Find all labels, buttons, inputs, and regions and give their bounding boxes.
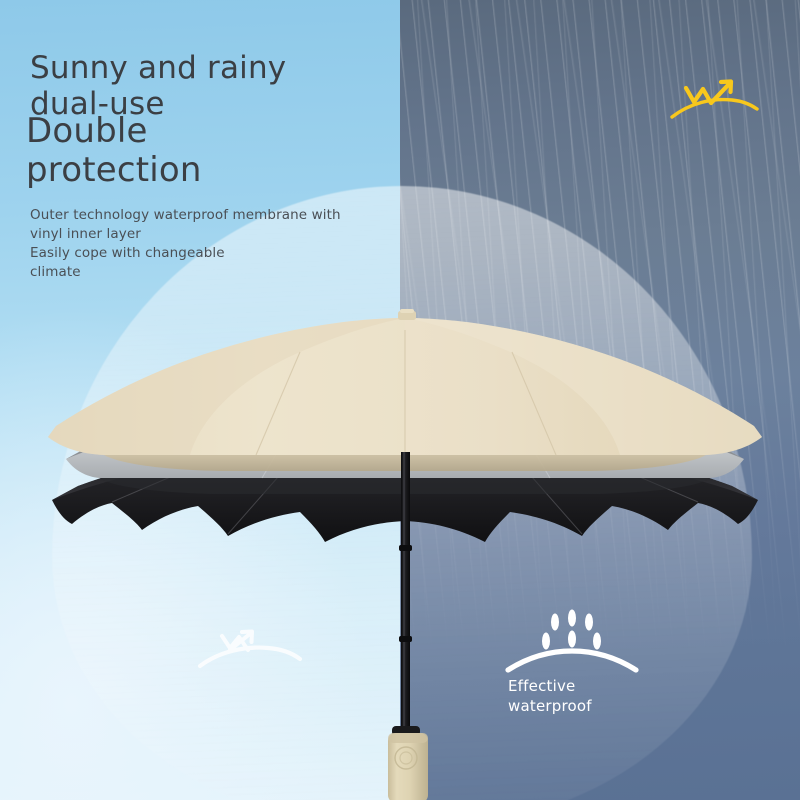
product-description: Outer technology waterproof membrane wit… bbox=[30, 206, 341, 283]
raindrops bbox=[542, 610, 601, 650]
sun-deflection-arrow-icon bbox=[664, 62, 764, 134]
waterproof-badge-label: Effective waterproof bbox=[508, 677, 648, 717]
sun-protection-badge bbox=[664, 62, 764, 134]
raindrops-on-arc-icon bbox=[496, 608, 646, 678]
headline-secondary: Double protection bbox=[26, 112, 202, 191]
uv-deflection-arrow-icon bbox=[196, 614, 306, 686]
uv-protection-badge bbox=[196, 614, 306, 686]
deflection-arc bbox=[508, 651, 636, 670]
product-poster: Sunny and rainy dual-use Double protecti… bbox=[0, 0, 800, 800]
